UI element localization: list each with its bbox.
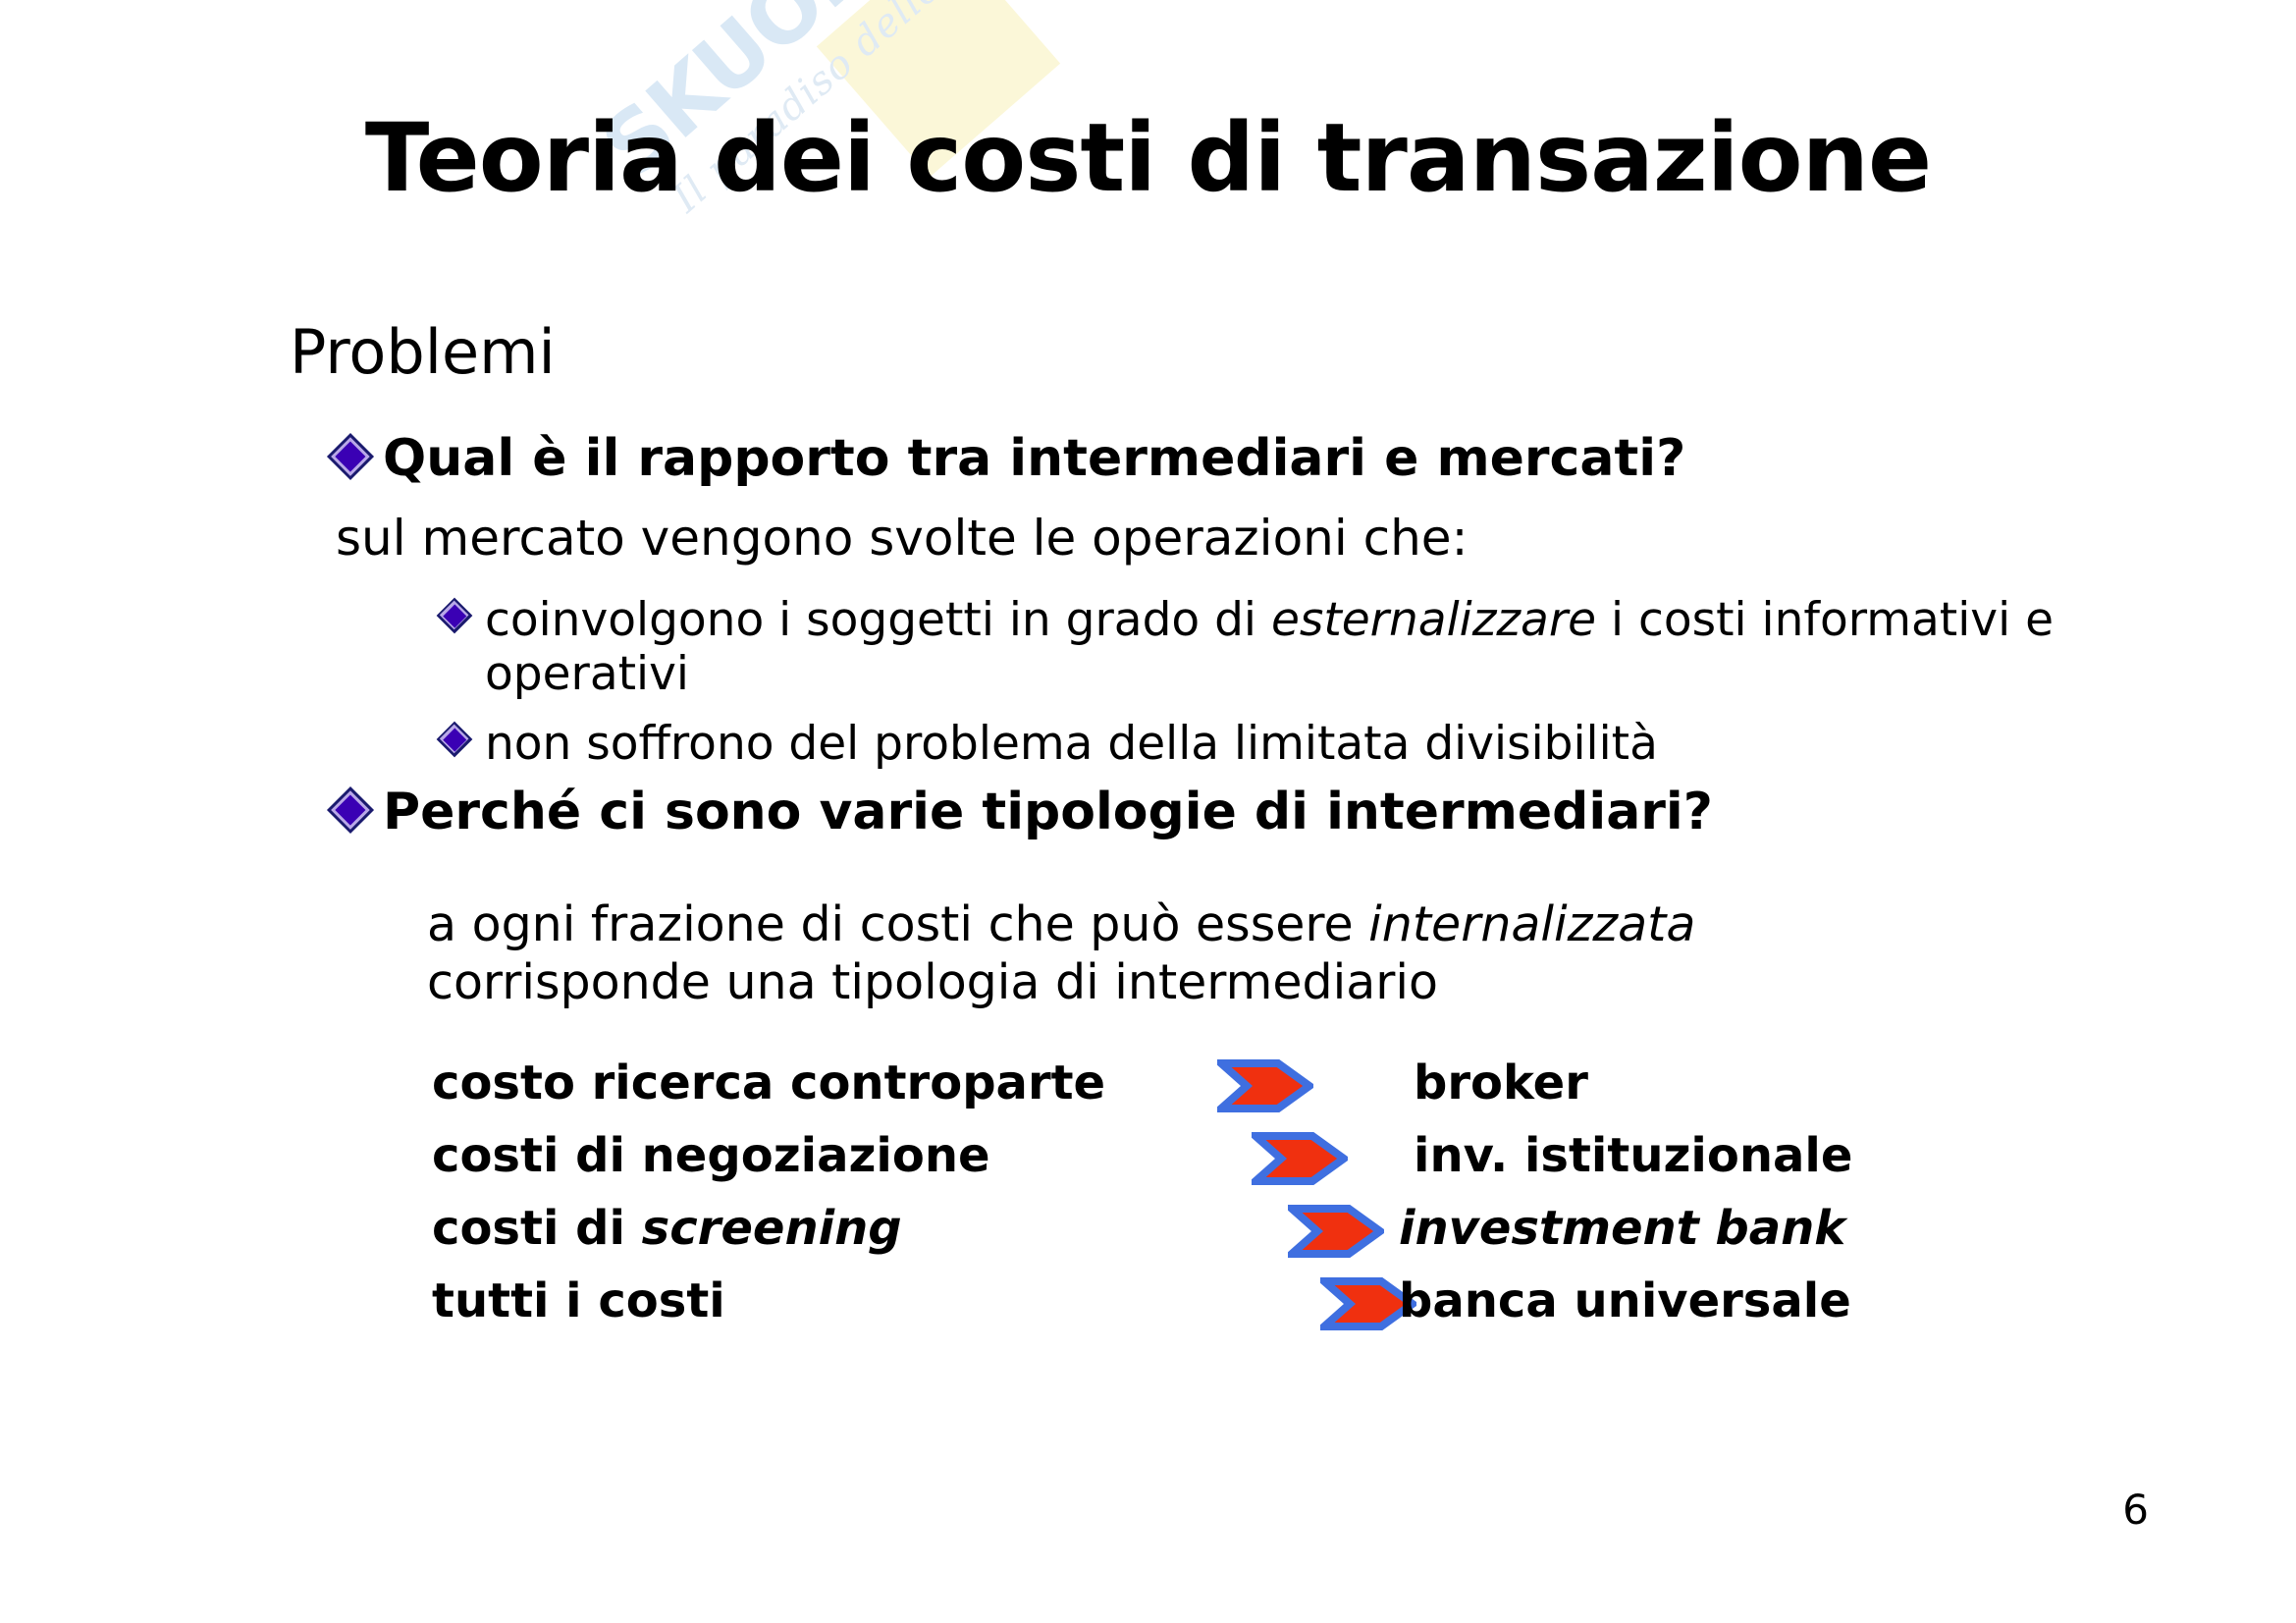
mapping-row: tutti i costi banca universale <box>432 1273 2002 1346</box>
right-arrow-icon <box>1288 1205 1384 1258</box>
diamond-bullet-icon <box>442 727 467 752</box>
intro-line-1: sul mercato vengono svolte le operazioni… <box>336 511 1468 566</box>
bullet-question-1: Qual è il rapporto tra intermediari e me… <box>334 430 2150 487</box>
mapping-row-0-left: costo ricerca controparte <box>432 1055 1105 1110</box>
sub-bullet-2-text: non soffrono del problema della limitata… <box>485 717 1658 771</box>
mapping-row-0-left-pre: costo ricerca controparte <box>432 1055 1105 1110</box>
mapping-row-2-left-pre: costi di <box>432 1201 642 1256</box>
answer-2-pre: a ogni frazione di costi che può essere <box>427 896 1368 952</box>
mapping-row: costi di screening investment bank <box>432 1201 2002 1273</box>
cost-to-intermediary-mapping: costo ricerca controparte broker costi d… <box>432 1055 2002 1346</box>
sub-bullet-1-emphasis: esternalizzare <box>1271 593 1596 647</box>
mapping-row-2-left-emphasis: screening <box>642 1201 902 1256</box>
mapping-row-1-right: inv. istituzionale <box>1414 1128 1852 1183</box>
slide-title: Teoria dei costi di transazione <box>0 103 2296 213</box>
right-arrow-icon <box>1217 1059 1313 1112</box>
sub-bullet-1-pre: coinvolgono i soggetti in grado di <box>485 593 1271 647</box>
sub-bullet-2: non soffrono del problema della limitata… <box>442 717 2110 771</box>
answer-2-post: corrisponde una tipologia di intermediar… <box>427 954 1438 1010</box>
sub-bullet-1: coinvolgono i soggetti in grado di ester… <box>442 593 2110 702</box>
question-2-text: Perché ci sono varie tipologie di interm… <box>383 784 1713 840</box>
mapping-row: costi di negoziazione inv. istituzionale <box>432 1128 2002 1201</box>
sub-bullet-1-text: coinvolgono i soggetti in grado di ester… <box>485 593 2110 702</box>
diamond-bullet-icon <box>334 793 367 827</box>
slide-canvas: SKUOLA.net Il paradiso dello studente Te… <box>0 0 2296 1623</box>
mapping-row-2-left: costi di screening <box>432 1201 902 1256</box>
mapping-row-3-right: banca universale <box>1399 1273 1851 1328</box>
mapping-row-2-right: investment bank <box>1399 1201 1845 1256</box>
mapping-row: costo ricerca controparte broker <box>432 1055 2002 1128</box>
bullet-question-2: Perché ci sono varie tipologie di interm… <box>334 784 2150 840</box>
question-1-text: Qual è il rapporto tra intermediari e me… <box>383 430 1685 487</box>
answer-paragraph-2: a ogni frazione di costi che può essere … <box>427 896 1919 1012</box>
answer-2-emphasis: internalizzata <box>1368 896 1695 952</box>
mapping-row-1-left: costi di negoziazione <box>432 1128 990 1183</box>
diamond-bullet-icon <box>442 603 467 628</box>
right-arrow-icon <box>1252 1132 1348 1185</box>
page-number: 6 <box>2122 1486 2149 1534</box>
section-label-problemi: Problemi <box>290 316 556 388</box>
watermark: SKUOLA.net Il paradiso dello studente <box>589 20 1139 432</box>
mapping-row-1-left-pre: costi di negoziazione <box>432 1128 990 1183</box>
mapping-row-3-left: tutti i costi <box>432 1273 725 1328</box>
mapping-row-0-right: broker <box>1414 1055 1588 1110</box>
mapping-row-3-left-pre: tutti i costi <box>432 1273 725 1328</box>
diamond-bullet-icon <box>334 440 367 473</box>
